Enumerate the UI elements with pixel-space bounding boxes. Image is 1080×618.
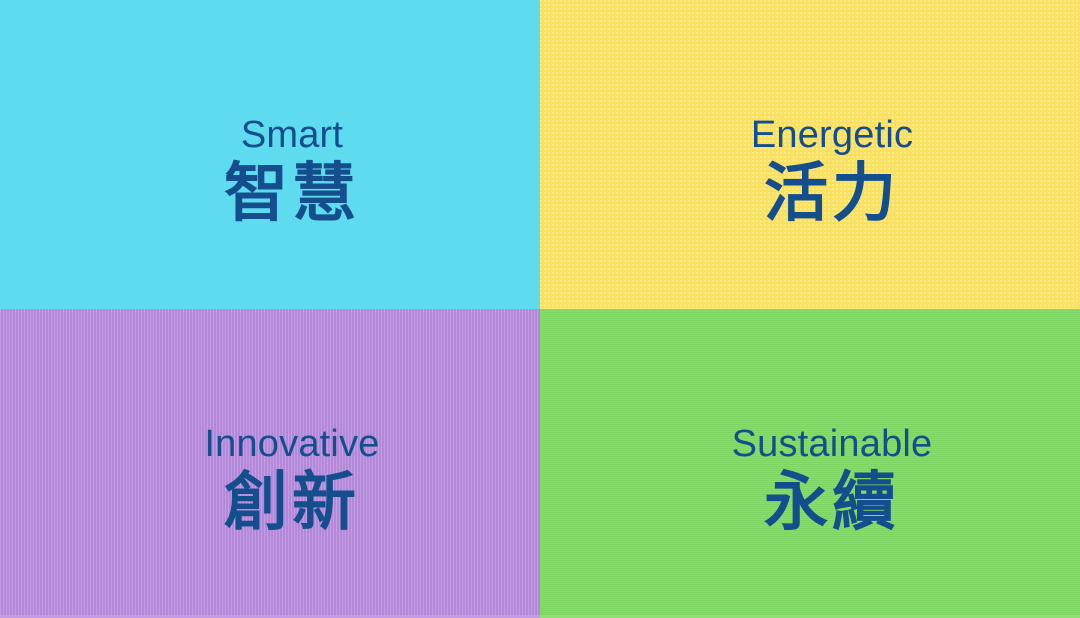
panel-energetic-label-zh: 活力: [764, 160, 900, 229]
panel-smart[interactable]: Smart 智慧: [0, 0, 540, 309]
panel-innovative[interactable]: Innovative 創新: [0, 309, 540, 618]
panel-innovative-label-zh: 創新: [224, 469, 360, 538]
panel-energetic[interactable]: Energetic 活力: [540, 0, 1080, 309]
panel-smart-text-block: Smart 智慧: [224, 116, 360, 229]
panel-innovative-text-block: Innovative 創新: [204, 425, 379, 538]
brand-values-grid: Smart 智慧 Energetic 活力 Innovative 創新 Sust…: [0, 0, 1080, 618]
panel-energetic-text-block: Energetic 活力: [751, 116, 913, 229]
panel-sustainable-text-block: Sustainable 永續: [732, 425, 933, 538]
panel-grid: Smart 智慧 Energetic 活力 Innovative 創新 Sust…: [0, 0, 1080, 618]
panel-smart-label-en: Smart: [241, 116, 343, 154]
panel-smart-label-zh: 智慧: [224, 160, 360, 229]
panel-sustainable[interactable]: Sustainable 永續: [540, 309, 1080, 618]
panel-energetic-label-en: Energetic: [751, 116, 913, 154]
panel-sustainable-label-zh: 永續: [764, 469, 900, 538]
panel-innovative-label-en: Innovative: [204, 425, 379, 463]
panel-sustainable-label-en: Sustainable: [732, 425, 933, 463]
